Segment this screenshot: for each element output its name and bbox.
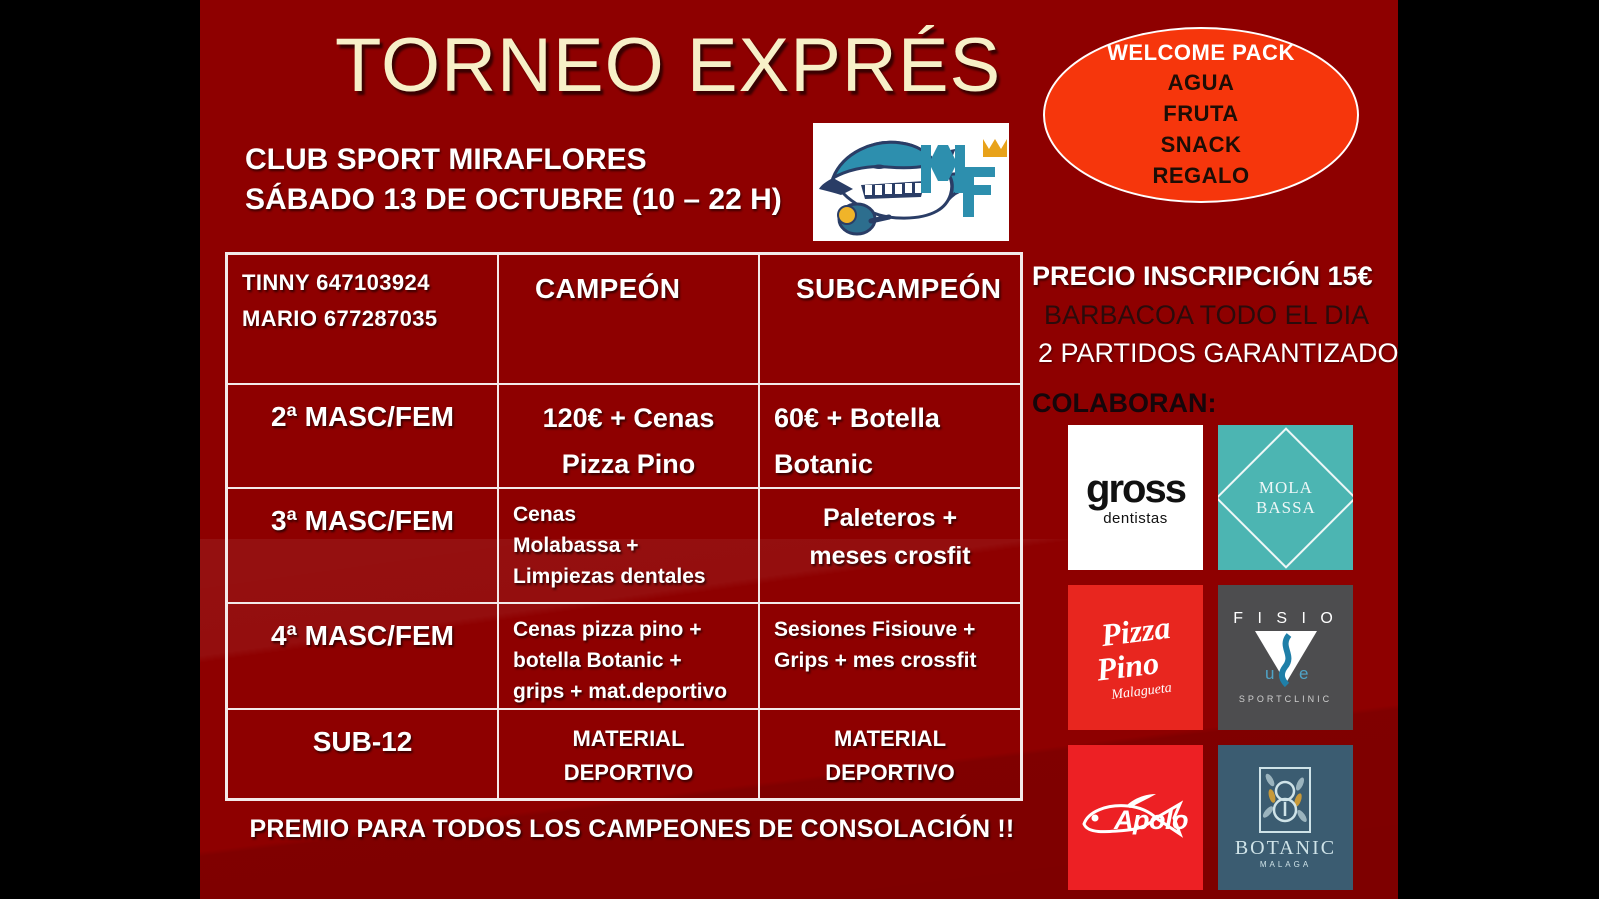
category-cell: SUB-12 (228, 710, 499, 798)
runnerup-prize-line: Sesiones Fisiouve + (774, 614, 1006, 645)
contact-mario: MARIO 677287035 (242, 301, 483, 337)
champion-prize-line: Cenas pizza pino + (513, 614, 744, 645)
champion-cell: Cenas Molabassa + Limpiezas dentales (499, 489, 760, 602)
champion-prize-line: Cenas (513, 499, 744, 530)
runnerup-prize-line: Paleteros + (774, 499, 1006, 537)
collaborate-label: COLABORAN: (1032, 372, 1382, 426)
shark-mascot-icon (813, 123, 1009, 241)
mola-line1: MOLA (1256, 478, 1316, 498)
champion-prize-line: MATERIAL (513, 720, 744, 754)
botanic-tagline: MALAGA (1235, 861, 1336, 869)
champion-prize-line: Molabassa + (513, 530, 744, 561)
header-champion: CAMPEÓN (499, 255, 760, 383)
subtitle-line-club: CLUB SPORT MIRAFLORES (245, 140, 865, 180)
event-subtitle: CLUB SPORT MIRAFLORES SÁBADO 13 DE OCTUB… (245, 140, 865, 220)
club-logo (813, 123, 1009, 241)
table-row: 4ª MASC/FEM Cenas pizza pino + botella B… (228, 604, 1020, 710)
welcome-pack-item-regalo: REGALO (1152, 160, 1249, 191)
sponsor-logo-botanic: BOTANIC MALAGA (1218, 745, 1353, 890)
runnerup-prize-line: Botanic (774, 441, 1006, 487)
fisio-v-icon: u e (1249, 627, 1323, 687)
header-champion-label: CAMPEÓN (513, 265, 744, 305)
champion-prize-line: 120€ + Cenas (513, 395, 744, 441)
prize-table: TINNY 647103924 MARIO 677287035 CAMPEÓN … (225, 252, 1023, 801)
mola-line2: BASSA (1256, 498, 1316, 518)
champion-cell: 120€ + Cenas Pizza Pino (499, 385, 760, 487)
category-label-2: 2ª MASC/FEM (242, 395, 483, 433)
contact-tinny: TINNY 647103924 (242, 265, 483, 301)
svg-text:u: u (1265, 664, 1274, 683)
fisio-tagline: SPORTCLINIC (1233, 695, 1338, 704)
barbacoa-line: BARBACOA TODO EL DIA (1032, 296, 1382, 334)
champion-cell: Cenas pizza pino + botella Botanic + gri… (499, 604, 760, 708)
gross-wordmark: gross (1086, 469, 1185, 509)
table-header-row: TINNY 647103924 MARIO 677287035 CAMPEÓN … (228, 255, 1020, 385)
champion-prize-line: botella Botanic + (513, 645, 744, 676)
sponsor-logo-gross: gross dentistas (1068, 425, 1203, 570)
runnerup-cell: Sesiones Fisiouve + Grips + mes crossfit (760, 604, 1020, 708)
champion-prize-line: Limpiezas dentales (513, 561, 744, 592)
sponsor-grid: gross dentistas MOLA BASSA Pizza Pino Ma… (1068, 425, 1353, 875)
category-cell: 3ª MASC/FEM (228, 489, 499, 602)
sponsor-logo-molabassa: MOLA BASSA (1218, 425, 1353, 570)
welcome-pack-item-snack: SNACK (1161, 129, 1242, 160)
table-row: SUB-12 MATERIAL DEPORTIVO MATERIAL DEPOR… (228, 710, 1020, 798)
subtitle-line-date: SÁBADO 13 DE OCTUBRE (10 – 22 H) (245, 180, 865, 220)
header-runnerup: SUBCAMPEÓN (760, 255, 1020, 383)
contact-cell: TINNY 647103924 MARIO 677287035 (228, 255, 499, 383)
sponsor-logo-pizzapino: Pizza Pino Malagueta (1068, 585, 1203, 730)
welcome-pack-item-fruta: FRUTA (1163, 98, 1238, 129)
welcome-pack-badge: WELCOME PACK AGUA FRUTA SNACK REGALO (1043, 27, 1359, 203)
pizza-line2: Pino (1091, 646, 1164, 686)
sponsor-logo-fisiouve: F I S I O u e SPORTCLINIC (1218, 585, 1353, 730)
champion-prize-line: Pizza Pino (513, 441, 744, 487)
runnerup-prize-line: meses crosfit (774, 537, 1006, 575)
table-row: 3ª MASC/FEM Cenas Molabassa + Limpiezas … (228, 489, 1020, 604)
crown-icon (983, 139, 1007, 157)
pizza-line1: Pizza (1099, 611, 1172, 651)
champion-prize-line: grips + mat.deportivo (513, 676, 744, 707)
consolation-note: PREMIO PARA TODOS LOS CAMPEONES DE CONSO… (237, 815, 1027, 844)
poster-panel: TORNEO EXPRÉS CLUB SPORT MIRAFLORES SÁBA… (200, 0, 1398, 899)
header-runnerup-label: SUBCAMPEÓN (774, 265, 1006, 305)
runnerup-prize-line: Grips + mes crossfit (774, 645, 1006, 676)
gross-subtitle: dentistas (1086, 511, 1185, 526)
champion-cell: MATERIAL DEPORTIVO (499, 710, 760, 798)
welcome-pack-item-agua: AGUA (1168, 67, 1235, 98)
page-title: TORNEO EXPRÉS (335, 24, 955, 108)
partidos-line: 2 PARTIDOS GARANTIZADOS (1032, 334, 1382, 372)
champion-prize-line: DEPORTIVO (513, 754, 744, 788)
table-row: 2ª MASC/FEM 120€ + Cenas Pizza Pino 60€ … (228, 385, 1020, 489)
category-label-3: 3ª MASC/FEM (242, 499, 483, 537)
category-label-4: 4ª MASC/FEM (242, 614, 483, 652)
svg-text:e: e (1299, 664, 1308, 683)
runnerup-prize-line: 60€ + Botella (774, 395, 1006, 441)
botanic-emblem-icon (1258, 766, 1312, 834)
botanic-wordmark: BOTANIC (1235, 838, 1336, 858)
runnerup-cell: 60€ + Botella Botanic (760, 385, 1020, 487)
runnerup-prize-line: DEPORTIVO (774, 754, 1006, 788)
price-line: PRECIO INSCRIPCIÓN 15€ (1032, 256, 1382, 296)
diamond-icon: MOLA BASSA (1218, 427, 1353, 568)
apolo-wordmark: Apolo (1114, 805, 1188, 836)
sponsor-logo-apolo: Apolo (1068, 745, 1203, 890)
category-cell: 2ª MASC/FEM (228, 385, 499, 487)
poster-screenshot: TORNEO EXPRÉS CLUB SPORT MIRAFLORES SÁBA… (0, 0, 1599, 899)
category-cell: 4ª MASC/FEM (228, 604, 499, 708)
fisio-wordmark: F I S I O (1233, 611, 1338, 627)
category-label-sub12: SUB-12 (242, 720, 483, 758)
runnerup-prize-line: MATERIAL (774, 720, 1006, 754)
welcome-pack-heading: WELCOME PACK (1107, 39, 1295, 67)
info-column: PRECIO INSCRIPCIÓN 15€ BARBACOA TODO EL … (1032, 256, 1382, 426)
runnerup-cell: Paleteros + meses crosfit (760, 489, 1020, 602)
runnerup-cell: MATERIAL DEPORTIVO (760, 710, 1020, 798)
